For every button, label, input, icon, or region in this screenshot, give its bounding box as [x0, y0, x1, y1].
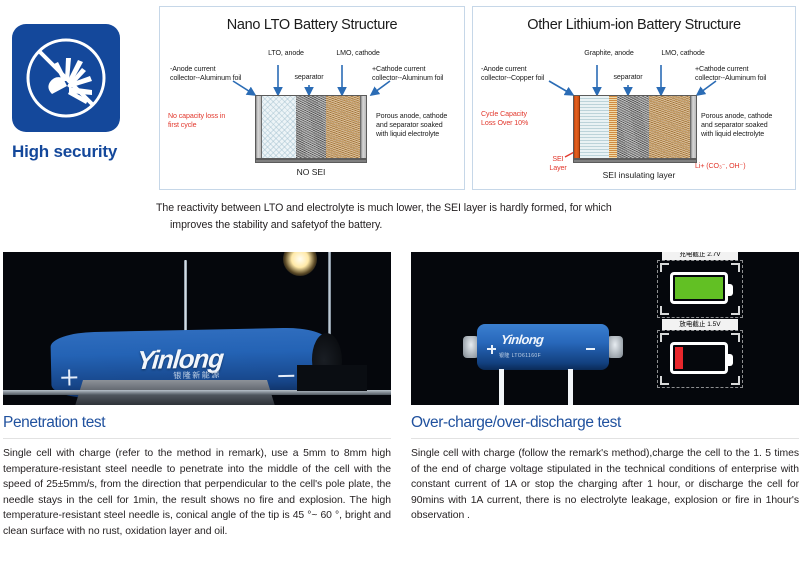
diagram-panel-other-liion: Other Lithium-ion Battery Structure -Ano…	[472, 6, 796, 190]
lamp-icon	[283, 252, 317, 276]
anode-current-collector-left	[255, 95, 262, 159]
intro-line-1: The reactivity between LTO and electroly…	[156, 202, 612, 214]
label-cathode-left: LMO, cathode	[323, 49, 393, 58]
meter-tag-charge: 充电截止 2.7V	[662, 252, 738, 260]
lto-anode-layer	[262, 95, 296, 159]
label-separator-left: separator	[282, 73, 336, 82]
meter-tag-discharge: 放电截止 1.5V	[662, 319, 738, 330]
label-sei-layer: SEI Layer	[545, 155, 571, 173]
graphite-anode-layer	[580, 95, 609, 159]
yinlong-logo-cell: Yinlong	[500, 332, 544, 347]
label-li-ion: Li+ (CO₃⁻, OH⁻)	[695, 162, 791, 171]
meter-charge-cutoff: 充电截止 2.7V	[657, 260, 743, 318]
bracket-tl-1	[660, 263, 669, 272]
label-anode-left: LTO, anode	[255, 49, 317, 58]
support-rod	[328, 252, 331, 342]
fixture-block	[297, 365, 367, 391]
cell-positive-mark	[487, 348, 496, 350]
intro-line-2: improves the stability and safetyof the …	[156, 217, 756, 234]
test-card-overcharge: Yinlong 银隆 LTO61160F 充电截止 2.7V 放电截止 1.5V	[411, 252, 799, 524]
terminal-negative	[607, 336, 623, 358]
battery-full-icon	[670, 272, 728, 304]
label-cathode-right: LMO, cathode	[649, 49, 717, 58]
test-card-penetration: Yinlong 银隆新能源 Penetration test Single ce…	[3, 252, 391, 540]
test-lead-right	[568, 369, 573, 405]
cell-bottom-left	[255, 159, 367, 163]
bracket-br-1	[731, 306, 740, 315]
lmo-cathode-layer-right	[649, 95, 690, 159]
bracket-br-2	[731, 376, 740, 385]
bracket-tr-2	[731, 333, 740, 342]
overcharge-test-photo: Yinlong 银隆 LTO61160F 充电截止 2.7V 放电截止 1.5V	[411, 252, 799, 405]
caption-sei-insulating: SEI insulating layer	[569, 170, 709, 180]
top-section: High security Nano LTO Battery Structure…	[0, 0, 800, 196]
label-cathode-collector-right: +Cathode current collector--Aluminum foi…	[695, 65, 793, 83]
diagram-panel-nano-lto: Nano LTO Battery Structure -Anode curren…	[159, 6, 465, 190]
intro-paragraph: The reactivity between LTO and electroly…	[156, 200, 756, 234]
note-porous-left: Porous anode, cathode and separator soak…	[376, 112, 468, 139]
test-title-penetration: Penetration test	[3, 414, 391, 439]
battery-cell: Yinlong 银隆 LTO61160F	[477, 324, 609, 370]
label-anode-right: Graphite, anode	[571, 49, 647, 58]
test-body-penetration: Single cell with charge (refer to the me…	[3, 446, 391, 540]
cathode-current-collector-left	[360, 95, 367, 159]
bracket-tl-2	[660, 333, 669, 342]
bracket-bl-2	[660, 376, 669, 385]
panel-title-left: Nano LTO Battery Structure	[160, 17, 464, 33]
label-anode-collector-left: -Anode current collector--Aluminum foil	[170, 65, 276, 83]
note-porous-right: Porous anode, cathode and separator soak…	[701, 112, 795, 139]
test-lead-left	[499, 369, 504, 405]
separator-layer-left	[296, 95, 326, 159]
battery-cross-section-left	[255, 95, 367, 159]
no-explosion-icon	[12, 24, 120, 132]
caption-no-sei: NO SEI	[255, 167, 367, 177]
cell-model-code: 银隆 LTO61160F	[499, 352, 541, 359]
anode-current-collector-right	[573, 95, 580, 159]
security-badge: High security	[0, 0, 150, 196]
battery-cross-section-right	[573, 95, 697, 159]
positive-terminal-mark	[61, 376, 77, 378]
meter-discharge-cutoff: 放电截止 1.5V	[657, 330, 743, 388]
separator-layer-right	[617, 95, 649, 159]
battery-fill-low	[675, 347, 683, 369]
label-anode-collector-right: -Anode current collector--Copper foil	[481, 65, 585, 83]
cell-negative-mark	[586, 348, 595, 350]
battery-fill-full	[675, 277, 723, 299]
yinlong-logo-cn: 银隆新能源	[173, 369, 221, 381]
label-cathode-collector-left: +Cathode current collector--Aluminum foi…	[372, 65, 468, 83]
note-cycle-capacity-loss: Cycle Capacity Loss Over 10%	[481, 110, 565, 128]
test-title-overcharge: Over-charge/over-discharge test	[411, 414, 799, 439]
penetration-test-photo: Yinlong 银隆新能源	[3, 252, 391, 405]
security-badge-label: High security	[12, 142, 142, 162]
battery-low-icon	[670, 342, 728, 374]
negative-terminal-mark	[278, 375, 294, 377]
cathode-current-collector-right	[690, 95, 697, 159]
sei-insulating-layer	[609, 95, 617, 159]
bracket-tr-1	[731, 263, 740, 272]
label-separator-right: separator	[601, 73, 655, 82]
note-no-capacity-loss: No capacity loss in first cycle	[168, 112, 252, 130]
panel-title-right: Other Lithium-ion Battery Structure	[473, 17, 795, 33]
cell-bottom-right	[573, 159, 697, 163]
lmo-cathode-layer-left	[326, 95, 360, 159]
bracket-bl-1	[660, 306, 669, 315]
test-body-overcharge: Single cell with charge (follow the rema…	[411, 446, 799, 524]
